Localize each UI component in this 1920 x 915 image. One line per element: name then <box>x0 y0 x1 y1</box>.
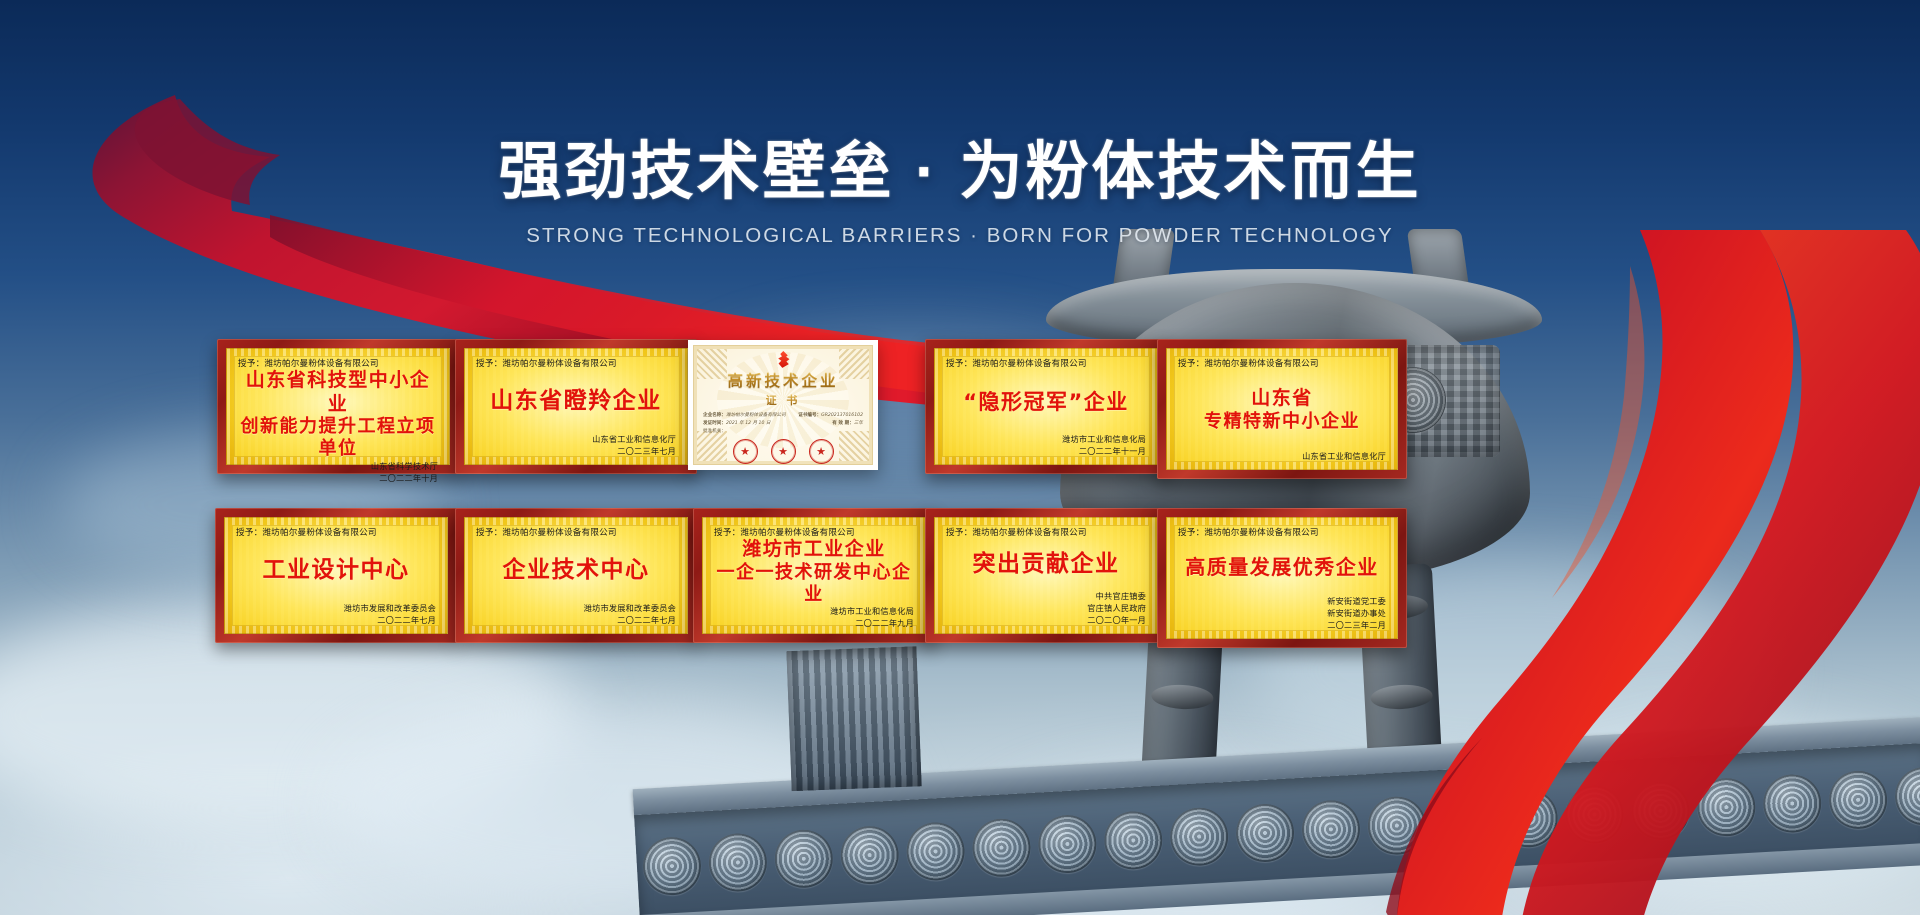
plaque-issuer: 潍坊市工业和信息化局 <box>714 606 914 618</box>
plaque-issuer: 山东省工业和信息化厅 <box>1178 451 1386 463</box>
plaque-title-line1: 潍坊市工业企业 <box>742 538 886 562</box>
plaque-title-line1: 山东省科技型中小企业 <box>238 369 438 416</box>
plaque-date: 二〇二二年九月 <box>714 618 914 630</box>
plaque-title: 山东省科技型中小企业 创新能力提升工程立项单位 <box>238 369 438 461</box>
plaque-grant-line: 授予：潍坊帕尔曼粉体设备有限公司 <box>1178 526 1386 538</box>
award-plaque[interactable]: 授予：潍坊帕尔曼粉体设备有限公司 山东省瞪羚企业 山东省工业和信息化厅 二〇二三… <box>455 339 697 474</box>
plaque-footer: 山东省科学技术厅 二〇二二年十月 <box>238 461 438 485</box>
plaque-issuer: 中共官庄镇委 <box>946 591 1146 603</box>
plaque-title-line1: 山东省瞪羚企业 <box>490 387 662 416</box>
official-seal-icon: ★ <box>733 439 758 464</box>
cert-corner-ornament <box>697 349 727 379</box>
cert-number-label: 证书编号： <box>798 413 821 418</box>
plaque-grant-line: 授予：潍坊帕尔曼粉体设备有限公司 <box>1178 357 1386 369</box>
cert-org-label: 批准机关： <box>703 428 726 436</box>
plaque-footer: 新安街道党工委 新安街道办事处 二〇二三年二月 <box>1178 596 1386 632</box>
plaque-issuer: 潍坊市工业和信息化局 <box>946 434 1146 446</box>
cert-title: 高新技术企业 <box>727 369 838 391</box>
plaque-title: 突出贡献企业 <box>946 538 1146 591</box>
plaque-issuer: 新安街道党工委 <box>1178 596 1386 608</box>
plaque-title-line1: 山东省 <box>1251 387 1313 411</box>
plaque-title: 企业技术中心 <box>476 538 676 603</box>
plaque-grant-line: 授予：潍坊帕尔曼粉体设备有限公司 <box>236 526 436 538</box>
award-plaque[interactable]: 授予：潍坊帕尔曼粉体设备有限公司 “隐形冠军”企业 潍坊市工业和信息化局 二〇二… <box>925 339 1167 474</box>
plaque-title: 高质量发展优秀企业 <box>1178 538 1386 596</box>
cert-company-label: 企业名称： <box>703 413 726 418</box>
plaque-title-line2: 专精特新中小企业 <box>1204 411 1360 433</box>
award-plaque[interactable]: 授予：潍坊帕尔曼粉体设备有限公司 山东省科技型中小企业 创新能力提升工程立项单位… <box>217 339 459 474</box>
plaque-issuer-2: 新安街道办事处 <box>1178 608 1386 620</box>
plaque-title: 山东省 专精特新中小企业 <box>1178 369 1386 451</box>
plaque-footer: 山东省工业和信息化厅 二〇二三年七月 <box>476 434 676 458</box>
plaque-title-line1: “隐形冠军”企业 <box>963 389 1129 415</box>
plaque-date: 二〇二二年十月 <box>238 473 438 485</box>
plaque-date: 二〇二三年七月 <box>476 446 676 458</box>
cert-valid-label: 有 效 期： <box>832 421 854 426</box>
plaque-grant-line: 授予：潍坊帕尔曼粉体设备有限公司 <box>476 526 676 538</box>
plaque-issuer: 山东省工业和信息化厅 <box>476 434 676 446</box>
plaque-issuer: 潍坊市发展和改革委员会 <box>476 603 676 615</box>
plaque-footer: 潍坊市工业和信息化局 二〇二二年十一月 <box>946 434 1146 458</box>
plaque-issuer: 潍坊市发展和改革委员会 <box>236 603 436 615</box>
high-tech-enterprise-certificate[interactable]: 高新技术企业 证 书 企业名称：潍坊帕尔曼粉体设备有限公司 证书编号：GR202… <box>688 340 878 470</box>
official-seal-icon: ★ <box>771 439 796 464</box>
plaque-issuer-2: 官庄镇人民政府 <box>946 603 1146 615</box>
cert-seals: ★ ★ ★ <box>733 439 834 464</box>
award-plaque[interactable]: 授予：潍坊帕尔曼粉体设备有限公司 突出贡献企业 中共官庄镇委 官庄镇人民政府 二… <box>925 508 1167 643</box>
plaque-grant-line: 授予：潍坊帕尔曼粉体设备有限公司 <box>946 357 1146 369</box>
award-plaque[interactable]: 授予：潍坊帕尔曼粉体设备有限公司 山东省 专精特新中小企业 山东省工业和信息化厅 <box>1157 339 1407 479</box>
cert-company-value: 潍坊帕尔曼粉体设备有限公司 <box>726 413 786 418</box>
plaque-grant-line: 授予：潍坊帕尔曼粉体设备有限公司 <box>946 526 1146 538</box>
plaque-footer: 中共官庄镇委 官庄镇人民政府 二〇二〇年一月 <box>946 591 1146 627</box>
plaque-title: 潍坊市工业企业 一企一技术研发中心企业 <box>714 538 914 606</box>
award-plaque[interactable]: 授予：潍坊帕尔曼粉体设备有限公司 潍坊市工业企业 一企一技术研发中心企业 潍坊市… <box>693 508 935 643</box>
plaque-grant-line: 授予：潍坊帕尔曼粉体设备有限公司 <box>714 526 914 538</box>
award-plaque[interactable]: 授予：潍坊帕尔曼粉体设备有限公司 高质量发展优秀企业 新安街道党工委 新安街道办… <box>1157 508 1407 648</box>
plaque-title: 山东省瞪羚企业 <box>476 369 676 434</box>
plaque-title: 工业设计中心 <box>236 538 436 603</box>
page-subtitle: STRONG TECHNOLOGICAL BARRIERS · BORN FOR… <box>0 224 1920 248</box>
plaque-grant-line: 授予：潍坊帕尔曼粉体设备有限公司 <box>238 357 438 369</box>
plaque-issuer: 山东省科学技术厅 <box>238 461 438 473</box>
cert-valid-value: 三年 <box>854 421 863 426</box>
plaque-grant-line: 授予：潍坊帕尔曼粉体设备有限公司 <box>476 357 676 369</box>
plaque-footer: 潍坊市发展和改革委员会 二〇二二年七月 <box>476 603 676 627</box>
banner-stage: 强劲技术壁垒 · 为粉体技术而生 STRONG TECHNOLOGICAL BA… <box>0 0 1920 915</box>
plaque-title-line2: 创新能力提升工程立项单位 <box>238 416 438 461</box>
plaque-title-line2: 一企一技术研发中心企业 <box>714 562 914 607</box>
plaque-date: 二〇二三年二月 <box>1178 620 1386 632</box>
plaque-date: 二〇二二年七月 <box>476 615 676 627</box>
plaque-footer: 潍坊市发展和改革委员会 二〇二二年七月 <box>236 603 436 627</box>
plaque-date: 二〇二〇年一月 <box>946 615 1146 627</box>
cert-number-value: GR202137016102 <box>821 413 863 418</box>
official-seal-icon: ★ <box>809 439 834 464</box>
plaque-title-line1: 高质量发展优秀企业 <box>1185 555 1379 580</box>
plaque-footer: 山东省工业和信息化厅 <box>1178 451 1386 463</box>
plaque-title-line1: 企业技术中心 <box>503 556 650 585</box>
plaque-title: “隐形冠军”企业 <box>946 369 1146 434</box>
cert-fields: 企业名称：潍坊帕尔曼粉体设备有限公司 证书编号：GR202137016102 发… <box>694 408 872 436</box>
cert-corner-ornament <box>839 349 869 379</box>
page-title: 强劲技术壁垒 · 为粉体技术而生 <box>0 138 1920 207</box>
cert-issue-label: 发证时间： <box>703 421 726 426</box>
award-plaque[interactable]: 授予：潍坊帕尔曼粉体设备有限公司 企业技术中心 潍坊市发展和改革委员会 二〇二二… <box>455 508 697 643</box>
cert-issue-value: 2021 年 12 月 10 日 <box>726 421 770 426</box>
plaque-date: 二〇二二年七月 <box>236 615 436 627</box>
cert-subtitle: 证 书 <box>766 392 801 408</box>
plaque-footer: 潍坊市工业和信息化局 二〇二二年九月 <box>714 606 914 630</box>
plaque-date: 二〇二二年十一月 <box>946 446 1146 458</box>
award-plaque[interactable]: 授予：潍坊帕尔曼粉体设备有限公司 工业设计中心 潍坊市发展和改革委员会 二〇二二… <box>215 508 457 643</box>
plaque-title-line1: 工业设计中心 <box>263 556 410 585</box>
plaque-title-line1: 突出贡献企业 <box>973 550 1120 579</box>
